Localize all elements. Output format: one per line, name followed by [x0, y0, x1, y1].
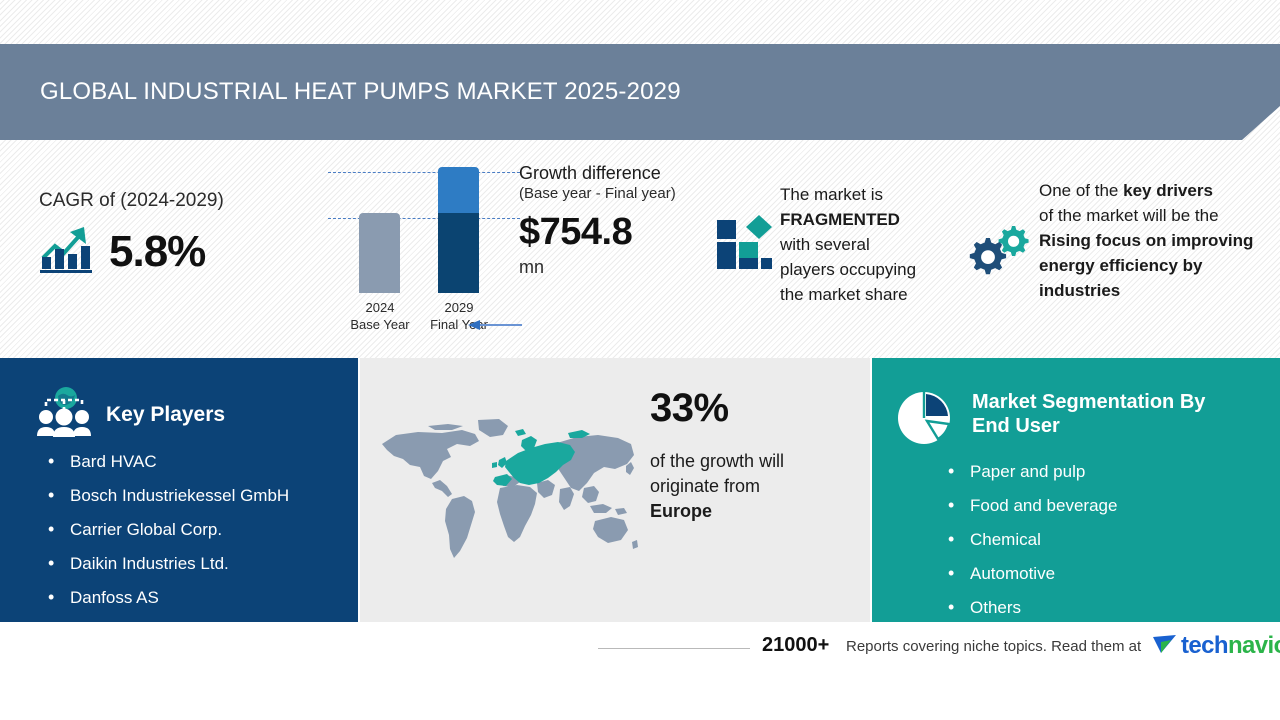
fragmentation-line3: players occupying — [780, 260, 916, 279]
list-item: Others — [946, 598, 1117, 618]
region-desc-line1: of the growth will — [650, 451, 784, 471]
stats-band: CAGR of (2024-2029) 5.8% — [0, 140, 1280, 358]
drivers-line2: of the market will be the — [1039, 206, 1219, 225]
list-item: Bosch Industriekessel GmbH — [46, 486, 289, 506]
key-drivers-text: One of the key drivers of the market wil… — [1039, 178, 1254, 303]
growth-pointer-arrow — [468, 318, 523, 330]
reference-line-top — [328, 172, 520, 173]
growth-difference-unit: mn — [519, 257, 714, 278]
region-name: Europe — [650, 501, 712, 521]
globe-network-people-icon — [36, 386, 92, 443]
technavio-logo[interactable]: technavio™ — [1152, 632, 1280, 660]
reference-line-mid — [328, 218, 520, 219]
list-item: Daikin Industries Ltd. — [46, 554, 289, 574]
footer-tagline: Reports covering niche topics. Read them… — [846, 638, 1141, 655]
list-item: Paper and pulp — [946, 462, 1117, 482]
bar-base-year — [359, 213, 400, 293]
fragmentation-line4: the market share — [780, 285, 908, 304]
technavio-arrow-logo-icon — [1152, 633, 1178, 660]
key-players-header: Key Players — [36, 386, 225, 443]
segmentation-header: Market Segmentation By End User — [896, 390, 1222, 451]
page-title: GLOBAL INDUSTRIAL HEAT PUMPS MARKET 2025… — [40, 78, 681, 106]
growth-difference-value: $754.8 — [519, 211, 714, 254]
key-players-panel: Key Players Bard HVAC Bosch Industriekes… — [0, 358, 358, 622]
logo-tech-text: tech — [1181, 632, 1228, 659]
list-item: Carrier Global Corp. — [46, 520, 289, 540]
cagr-label: CAGR of (2024-2029) — [39, 190, 319, 212]
key-players-title: Key Players — [106, 403, 225, 427]
fragmentation-line2: with several — [780, 235, 870, 254]
cagr-block: CAGR of (2024-2029) 5.8% — [39, 190, 319, 279]
growth-bar-chart: 2024 Base Year 2029 Final Year — [328, 155, 518, 335]
footer-report-count: 21000+ — [762, 634, 829, 657]
list-item: Chemical — [946, 530, 1117, 550]
drivers-bold-key-drivers: key drivers — [1123, 181, 1213, 200]
list-item: Danfoss AS — [46, 588, 289, 608]
world-map — [372, 413, 642, 568]
cagr-value: 5.8% — [109, 227, 205, 277]
fragmentation-line1: The market is — [780, 185, 883, 204]
drivers-line1: One of the — [1039, 181, 1123, 200]
growth-difference-title: Growth difference — [519, 162, 714, 184]
pie-chart-icon — [896, 390, 952, 451]
squares-mosaic-icon — [716, 214, 772, 275]
list-item: Food and beverage — [946, 496, 1117, 516]
base-year-sublabel: Base Year — [335, 316, 425, 333]
market-segmentation-panel: Market Segmentation By End User Paper an… — [872, 358, 1280, 622]
segmentation-list: Paper and pulp Food and beverage Chemica… — [946, 462, 1117, 632]
bar-label-base-year: 2024 Base Year — [335, 299, 425, 333]
region-description: of the growth will originate from Europe — [650, 449, 850, 524]
bar-chart-growth-icon — [39, 224, 93, 279]
list-item: Bard HVAC — [46, 452, 289, 472]
logo-navio-text: navio — [1228, 632, 1280, 659]
fragmentation-bold: FRAGMENTED — [780, 210, 900, 229]
footer: 21000+ Reports covering niche topics. Re… — [0, 622, 1280, 720]
technavio-wordmark: technavio™ — [1181, 632, 1280, 660]
bar-final-year — [438, 167, 479, 293]
drivers-bold-statement: Rising focus on improving energy efficie… — [1039, 231, 1253, 300]
cagr-row: 5.8% — [39, 224, 319, 279]
region-stat-block: 33% of the growth will originate from Eu… — [650, 386, 850, 524]
growth-difference-block: Growth difference (Base year - Final yea… — [519, 162, 714, 278]
region-map-panel: 33% of the growth will originate from Eu… — [360, 358, 870, 622]
infographic-root: GLOBAL INDUSTRIAL HEAT PUMPS MARKET 2025… — [0, 0, 1280, 720]
footer-divider — [598, 648, 750, 649]
growth-difference-subtitle: (Base year - Final year) — [519, 185, 714, 202]
gears-icon — [968, 222, 1030, 283]
region-desc-line2: originate from — [650, 476, 760, 496]
key-players-list: Bard HVAC Bosch Industriekessel GmbH Car… — [46, 452, 289, 622]
base-year-value: 2024 — [366, 300, 395, 315]
final-year-value: 2029 — [445, 300, 474, 315]
fragmentation-text: The market is FRAGMENTED with several pl… — [780, 182, 955, 307]
list-item: Automotive — [946, 564, 1117, 584]
region-percent: 33% — [650, 386, 850, 431]
segmentation-title: Market Segmentation By End User — [972, 390, 1222, 438]
